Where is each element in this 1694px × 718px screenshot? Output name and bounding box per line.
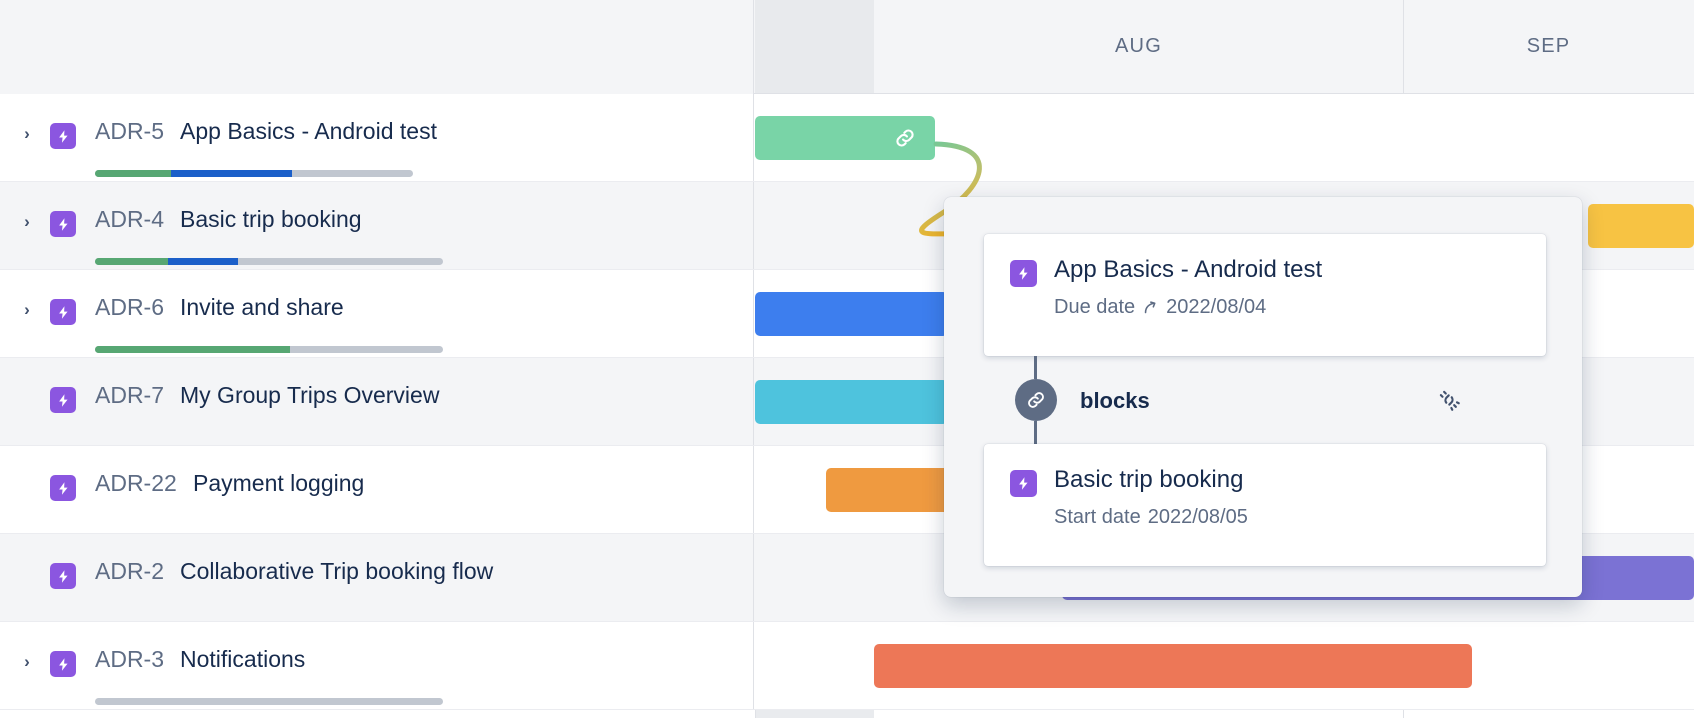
chevron-right-icon[interactable]: › [18,653,36,671]
row-progress-bar [95,346,443,353]
row-issue-key[interactable]: ADR-4 [95,206,164,233]
dependency-source-card[interactable]: App Basics - Android test Due date 2022/… [984,234,1546,356]
chevron-right-icon[interactable]: › [18,213,36,231]
row-issue-title[interactable]: Invite and share [180,294,344,321]
row-issue-cell: ›ADR-4Basic trip booking [0,182,754,269]
link-chain-icon [1015,379,1057,421]
timeline-row[interactable]: ›ADR-5App Basics - Android test [0,94,1694,182]
row-issue-key[interactable]: ADR-3 [95,646,164,673]
row-issue-key[interactable]: ADR-7 [95,382,164,409]
row-issue-key[interactable]: ADR-2 [95,558,164,585]
row-issue-title[interactable]: My Group Trips Overview [180,382,439,409]
link-chain-icon[interactable] [893,126,917,150]
progress-segment-inprogress [168,258,238,265]
unlink-icon[interactable] [1434,385,1464,415]
row-issue-title[interactable]: Collaborative Trip booking flow [180,558,493,585]
progress-segment-done [95,346,290,353]
progress-segment-inprogress [171,170,292,177]
start-date-label: Start date [1054,506,1141,529]
row-issue-key[interactable]: ADR-22 [95,470,177,497]
epic-bolt-icon [50,651,76,677]
row-issue-cell: ›ADR-6Invite and share [0,270,754,357]
dependency-target-card[interactable]: Basic trip booking Start date 2022/08/05 [984,444,1546,566]
epic-bolt-icon [50,563,76,589]
dependency-popup: App Basics - Android test Due date 2022/… [944,197,1582,597]
dependency-connector-bottom [1034,421,1037,444]
epic-bolt-icon [1010,470,1037,497]
due-date-value: 2022/08/04 [1166,296,1266,319]
row-issue-title[interactable]: Basic trip booking [180,206,362,233]
dependency-relation-label: blocks [1080,388,1150,414]
row-issue-title[interactable]: Notifications [180,646,305,673]
epic-bolt-icon [50,475,76,501]
row-issue-title[interactable]: App Basics - Android test [180,118,437,145]
chevron-right-icon[interactable]: › [18,125,36,143]
timeline-header: AUG SEP [0,0,1694,94]
due-date-label: Due date [1054,296,1135,319]
row-issue-key[interactable]: ADR-6 [95,294,164,321]
epic-bolt-icon [1010,260,1037,287]
chevron-right-icon[interactable]: › [18,301,36,319]
row-issue-cell: ADR-22Payment logging [0,446,754,533]
month-label-aug: AUG [874,0,1403,93]
start-date-value: 2022/08/05 [1148,506,1248,529]
dependency-target-title: Basic trip booking [1054,466,1243,494]
row-progress-bar [95,698,443,705]
gantt-bar[interactable] [755,380,948,424]
row-progress-bar [95,258,443,265]
epic-bolt-icon [50,211,76,237]
timeline-row[interactable]: ›ADR-3Notifications [0,622,1694,710]
progress-segment-done [95,258,168,265]
row-issue-cell: ›ADR-3Notifications [0,622,754,709]
row-issue-cell: ADR-2Collaborative Trip booking flow [0,534,754,621]
row-issue-cell: ADR-7My Group Trips Overview [0,358,754,445]
row-issue-cell: ›ADR-5App Basics - Android test [0,94,754,181]
dependency-target-date: Start date 2022/08/05 [1054,506,1248,529]
gantt-bar[interactable] [874,644,1472,688]
row-issue-title[interactable]: Payment logging [193,470,364,497]
gantt-timeline-view: AUG SEP ›ADR-5App Basics - Android test›… [0,0,1694,718]
dependency-source-date: Due date 2022/08/04 [1054,296,1266,319]
gantt-bar[interactable] [1588,204,1694,248]
month-label-sep: SEP [1403,0,1694,93]
header-weekend-shade [755,0,874,93]
epic-bolt-icon [50,123,76,149]
arrow-turn-up-right-icon [1142,299,1159,316]
progress-segment-done [95,170,171,177]
epic-bolt-icon [50,299,76,325]
header-issue-column [0,0,754,94]
gantt-bar[interactable] [755,292,948,336]
row-progress-bar [95,170,413,177]
gantt-bar[interactable] [755,116,935,160]
row-issue-key[interactable]: ADR-5 [95,118,164,145]
dependency-source-title: App Basics - Android test [1054,256,1322,284]
dependency-connector-top [1034,356,1037,379]
epic-bolt-icon [50,387,76,413]
